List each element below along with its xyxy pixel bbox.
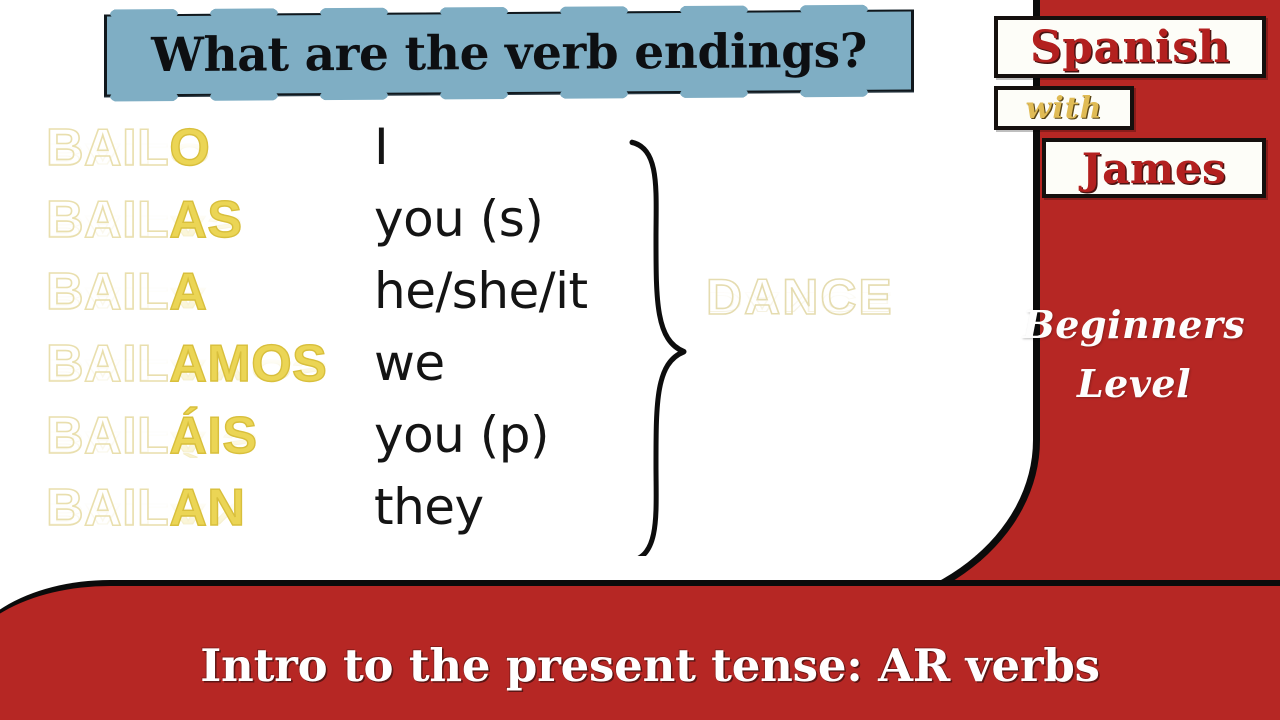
brand-box-with: with — [994, 86, 1134, 130]
verb-ending: ÁIS — [169, 407, 257, 465]
verb-ending: O — [169, 119, 210, 177]
level-line-1: Beginners — [1023, 302, 1246, 347]
verb-ending: A — [169, 263, 207, 321]
conjugation-row: BAILÁIS BAILÁIS you (p) — [0, 406, 940, 478]
verb-stem: BAIL — [46, 479, 169, 537]
brand-box-spanish: Spanish — [994, 16, 1266, 78]
bottom-title-banner: Intro to the present tense: AR verbs — [0, 580, 1280, 720]
pronoun-label: we — [374, 330, 445, 396]
pronoun-label: I — [374, 114, 388, 180]
pronoun-label: he/she/it — [374, 258, 588, 324]
conjugation-row: BAILAN BAILAN they — [0, 478, 940, 550]
verb-stem: BAIL — [46, 191, 169, 249]
verb-form: BAILAN — [46, 478, 245, 538]
verb-form: BAILAMOS — [46, 334, 327, 394]
brand-james-label: James — [1082, 144, 1226, 193]
level-label: Beginners Level — [1004, 296, 1264, 414]
curly-brace-icon — [598, 116, 688, 556]
verb-stem: BAIL — [46, 335, 169, 393]
pronoun-label: they — [374, 474, 484, 540]
verb-stem: BAIL — [46, 407, 169, 465]
verb-form: BAILÁIS — [46, 406, 258, 466]
pronoun-label: you (s) — [374, 186, 543, 252]
verb-ending: AN — [169, 479, 245, 537]
verb-stem: BAIL — [46, 119, 169, 177]
verb-form: BAILA — [46, 262, 207, 322]
conjugation-row: BAILO BAILO I — [0, 118, 940, 190]
slide-background: What are the verb endings? BAILO BAILO I… — [0, 0, 1280, 720]
brand-with-label: with — [1026, 91, 1103, 126]
brand-box-james: James — [1042, 138, 1266, 198]
conjugation-table: BAILO BAILO I BAILAS BAILAS you (s) BAIL… — [0, 118, 940, 568]
conjugation-row: BAILAMOS BAILAMOS we — [0, 334, 940, 406]
verb-form: BAILO — [46, 118, 210, 178]
verb-ending: AMOS — [169, 335, 327, 393]
verb-stem: BAIL — [46, 263, 169, 321]
level-line-2: Level — [1004, 355, 1264, 414]
pronoun-label: you (p) — [374, 402, 549, 468]
title-text: What are the verb endings? — [151, 23, 867, 82]
conjugation-row: BAILAS BAILAS you (s) — [0, 190, 940, 262]
verb-ending: AS — [169, 191, 242, 249]
brand-spanish-label: Spanish — [1030, 22, 1230, 73]
title-banner: What are the verb endings? — [104, 10, 914, 97]
translation-text: DANCE — [706, 268, 894, 326]
verb-form: BAILAS — [46, 190, 243, 250]
bottom-title-text: Intro to the present tense: AR verbs — [200, 639, 1100, 692]
